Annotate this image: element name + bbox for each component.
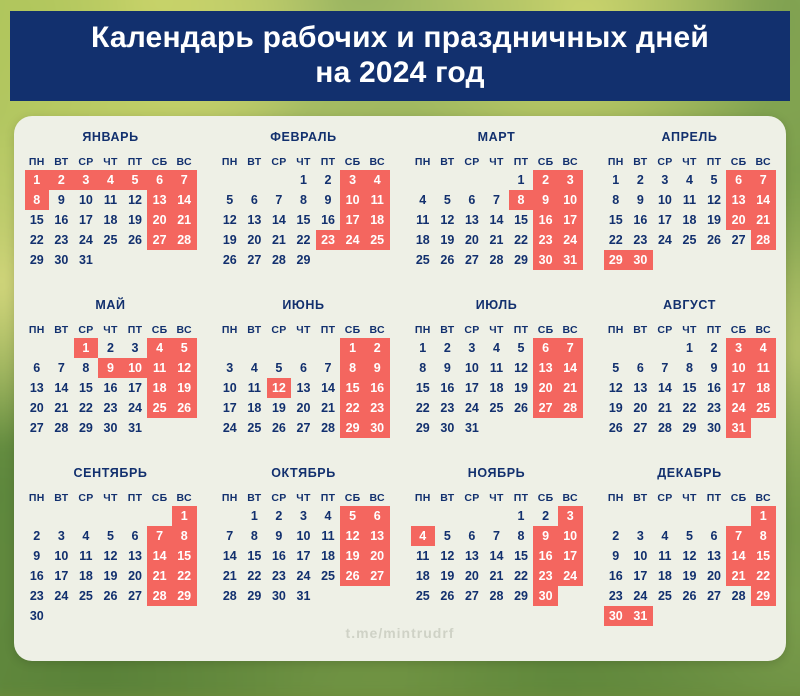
day-cell-empty — [677, 606, 702, 626]
day-cell-work: 21 — [653, 398, 678, 418]
weekday-header-7: ВС — [558, 153, 583, 170]
weekday-header-2: ВТ — [435, 153, 460, 170]
day-cell-rest: 1 — [172, 506, 197, 526]
day-cell-work: 30 — [25, 606, 50, 626]
day-cell-work: 5 — [267, 358, 292, 378]
day-cell-work: 30 — [267, 586, 292, 606]
day-cell-work: 9 — [316, 190, 341, 210]
weekday-header-row: ПНВТСРЧТПТСБВС — [411, 489, 583, 506]
weekday-header-4: ЧТ — [98, 321, 123, 338]
week-row: 1234567 — [604, 170, 776, 190]
day-cell-rest: 23 — [533, 230, 558, 250]
day-cell-work: 2 — [533, 506, 558, 526]
day-cell-empty — [702, 250, 727, 270]
month-table: ПНВТСРЧТПТСБВС 1234567891011121314151617… — [218, 489, 390, 606]
day-cell-work: 13 — [628, 378, 653, 398]
day-cell-work: 4 — [653, 526, 678, 546]
day-cell-work: 4 — [242, 358, 267, 378]
day-cell-empty — [98, 250, 123, 270]
week-row: 18192021222324 — [411, 230, 583, 250]
day-cell-work: 18 — [484, 378, 509, 398]
day-cell-work: 19 — [218, 230, 243, 250]
day-cell-rest: 10 — [558, 190, 583, 210]
day-cell-work: 17 — [123, 378, 148, 398]
day-cell-rest: 9 — [533, 526, 558, 546]
month-table: ПНВТСРЧТПТСБВС 1234567891011121314151617… — [604, 321, 776, 438]
day-cell-empty — [340, 586, 365, 606]
day-cell-work: 2 — [604, 526, 629, 546]
day-cell-work: 21 — [316, 398, 341, 418]
day-cell-rest: 30 — [533, 250, 558, 270]
day-cell-work: 18 — [411, 230, 436, 250]
weekday-header-2: ВТ — [49, 489, 74, 506]
day-cell-work: 25 — [653, 586, 678, 606]
day-cell-work: 15 — [74, 378, 99, 398]
week-row: 21222324252627 — [218, 566, 390, 586]
day-cell-rest: 12 — [340, 526, 365, 546]
day-cell-work: 22 — [677, 398, 702, 418]
month-block-12: ДЕКАБРЬПНВТСРЧТПТСБВС 123456789101112131… — [593, 466, 786, 634]
week-row: 123456 — [218, 506, 390, 526]
day-cell-work: 20 — [291, 398, 316, 418]
week-row: 3456789 — [218, 358, 390, 378]
day-cell-work: 10 — [49, 546, 74, 566]
week-row: 17181920212223 — [218, 398, 390, 418]
day-cell-work: 9 — [267, 526, 292, 546]
weekday-header-3: СР — [653, 153, 678, 170]
day-cell-work: 15 — [677, 378, 702, 398]
weekday-header-7: ВС — [172, 321, 197, 338]
day-cell-work: 28 — [484, 250, 509, 270]
day-cell-empty — [726, 506, 751, 526]
day-cell-empty — [460, 506, 485, 526]
day-cell-work: 24 — [123, 398, 148, 418]
day-cell-work: 25 — [411, 586, 436, 606]
day-cell-rest: 21 — [558, 378, 583, 398]
day-cell-work: 13 — [460, 210, 485, 230]
day-cell-work: 23 — [604, 586, 629, 606]
day-cell-rest: 31 — [558, 250, 583, 270]
weekday-header-5: ПТ — [509, 153, 534, 170]
week-row: 22232425262728 — [25, 230, 197, 250]
weekday-header-4: ЧТ — [291, 321, 316, 338]
month-name: ОКТЯБРЬ — [271, 466, 336, 480]
month-block-9: СЕНТЯБРЬПНВТСРЧТПТСБВС 12345678910111213… — [14, 466, 207, 634]
day-cell-empty — [123, 606, 148, 626]
day-cell-work: 11 — [653, 546, 678, 566]
day-cell-work: 18 — [677, 210, 702, 230]
day-cell-work: 16 — [316, 210, 341, 230]
weekday-header-6: СБ — [340, 153, 365, 170]
day-cell-work: 8 — [411, 358, 436, 378]
day-cell-work: 1 — [411, 338, 436, 358]
day-cell-work: 22 — [509, 566, 534, 586]
day-cell-work: 13 — [460, 546, 485, 566]
week-row: 2728293031 — [25, 418, 197, 438]
day-cell-work: 19 — [435, 566, 460, 586]
weekday-header-7: ВС — [365, 489, 390, 506]
month-table: ПНВТСРЧТПТСБВС 1234567891011121314151617… — [218, 321, 390, 438]
month-name: СЕНТЯБРЬ — [74, 466, 148, 480]
week-row: 262728293031 — [604, 418, 776, 438]
weekday-header-3: СР — [460, 153, 485, 170]
day-cell-work: 19 — [267, 398, 292, 418]
day-cell-work: 27 — [702, 586, 727, 606]
weekday-header-4: ЧТ — [98, 153, 123, 170]
day-cell-rest: 16 — [365, 378, 390, 398]
day-cell-work: 12 — [98, 546, 123, 566]
day-cell-work: 31 — [123, 418, 148, 438]
week-row: 3031 — [604, 606, 776, 626]
day-cell-work: 6 — [460, 190, 485, 210]
day-cell-rest: 19 — [172, 378, 197, 398]
day-cell-rest: 15 — [751, 546, 776, 566]
month-name: ИЮНЬ — [282, 298, 324, 312]
day-cell-rest: 8 — [172, 526, 197, 546]
weekday-header-6: СБ — [340, 489, 365, 506]
day-cell-rest: 1 — [340, 338, 365, 358]
month-name: АВГУСТ — [663, 298, 716, 312]
weekday-header-5: ПТ — [123, 153, 148, 170]
day-cell-work: 10 — [460, 358, 485, 378]
weekday-header-6: СБ — [533, 153, 558, 170]
day-cell-work: 15 — [604, 210, 629, 230]
day-cell-rest: 1 — [74, 338, 99, 358]
day-cell-rest: 25 — [147, 398, 172, 418]
day-cell-work: 30 — [49, 250, 74, 270]
day-cell-empty — [25, 338, 50, 358]
day-cell-rest: 13 — [365, 526, 390, 546]
day-cell-work: 7 — [316, 358, 341, 378]
day-cell-work: 26 — [267, 418, 292, 438]
day-cell-work: 5 — [604, 358, 629, 378]
day-cell-work: 15 — [411, 378, 436, 398]
day-cell-empty — [316, 586, 341, 606]
months-grid: ЯНВАРЬПНВТСРЧТПТСБВС12345678910111213141… — [14, 130, 786, 634]
week-row: 15161718192021 — [604, 210, 776, 230]
weekday-header-row: ПНВТСРЧТПТСБВС — [218, 153, 390, 170]
day-cell-rest: 4 — [147, 338, 172, 358]
day-cell-work: 12 — [435, 546, 460, 566]
day-cell-work: 19 — [677, 566, 702, 586]
weekday-header-7: ВС — [558, 321, 583, 338]
weekday-header-row: ПНВТСРЧТПТСБВС — [25, 489, 197, 506]
weekday-header-1: ПН — [218, 321, 243, 338]
weekday-header-1: ПН — [411, 153, 436, 170]
day-cell-empty — [218, 338, 243, 358]
day-cell-empty — [604, 338, 629, 358]
weekday-header-3: СР — [267, 153, 292, 170]
day-cell-work: 11 — [74, 546, 99, 566]
week-row: 20212223242526 — [25, 398, 197, 418]
weekday-header-row: ПНВТСРЧТПТСБВС — [604, 321, 776, 338]
day-cell-rest: 3 — [558, 170, 583, 190]
week-row: 19202122232425 — [604, 398, 776, 418]
day-cell-work: 8 — [509, 526, 534, 546]
weekday-header-5: ПТ — [316, 153, 341, 170]
day-cell-rest: 18 — [751, 378, 776, 398]
day-cell-work: 3 — [628, 526, 653, 546]
day-cell-empty — [365, 586, 390, 606]
weekday-header-2: ВТ — [242, 321, 267, 338]
day-cell-work: 27 — [628, 418, 653, 438]
day-cell-work: 18 — [242, 398, 267, 418]
week-row: 45678910 — [411, 526, 583, 546]
day-cell-rest: 18 — [147, 378, 172, 398]
day-cell-rest: 6 — [147, 170, 172, 190]
month-block-8: АВГУСТПНВТСРЧТПТСБВС 1234567891011121314… — [593, 298, 786, 466]
day-cell-work: 13 — [25, 378, 50, 398]
day-cell-work: 27 — [726, 230, 751, 250]
day-cell-empty — [218, 170, 243, 190]
weekday-header-4: ЧТ — [484, 153, 509, 170]
day-cell-empty — [533, 418, 558, 438]
month-name: МАРТ — [478, 130, 516, 144]
day-cell-work: 12 — [702, 190, 727, 210]
day-cell-empty — [484, 418, 509, 438]
day-cell-rest: 14 — [558, 358, 583, 378]
day-cell-work: 5 — [677, 526, 702, 546]
day-cell-empty — [98, 506, 123, 526]
weekday-header-5: ПТ — [702, 153, 727, 170]
day-cell-work: 29 — [291, 250, 316, 270]
day-cell-empty — [147, 418, 172, 438]
weekday-header-2: ВТ — [435, 321, 460, 338]
day-cell-work: 8 — [677, 358, 702, 378]
day-cell-work: 27 — [242, 250, 267, 270]
weekday-header-3: СР — [267, 489, 292, 506]
day-cell-rest: 24 — [558, 566, 583, 586]
day-cell-empty — [267, 170, 292, 190]
day-cell-rest: 10 — [340, 190, 365, 210]
day-cell-work: 14 — [484, 546, 509, 566]
day-cell-empty — [484, 170, 509, 190]
day-cell-rest: 10 — [558, 526, 583, 546]
day-cell-work: 29 — [74, 418, 99, 438]
day-cell-work: 23 — [628, 230, 653, 250]
day-cell-work: 25 — [677, 230, 702, 250]
day-cell-empty — [751, 418, 776, 438]
day-cell-rest: 5 — [172, 338, 197, 358]
day-cell-empty — [267, 338, 292, 358]
day-cell-work: 8 — [291, 190, 316, 210]
day-cell-work: 11 — [316, 526, 341, 546]
weekday-header-row: ПНВТСРЧТПТСБВС — [218, 489, 390, 506]
day-cell-work: 19 — [604, 398, 629, 418]
day-cell-work: 28 — [267, 250, 292, 270]
week-row: 19202122232425 — [218, 230, 390, 250]
day-cell-work: 3 — [653, 170, 678, 190]
day-cell-rest: 29 — [340, 418, 365, 438]
day-cell-work: 1 — [677, 338, 702, 358]
day-cell-rest: 20 — [726, 210, 751, 230]
weekday-header-3: СР — [267, 321, 292, 338]
day-cell-work: 14 — [49, 378, 74, 398]
week-row: 78910111213 — [218, 526, 390, 546]
day-cell-work: 12 — [677, 546, 702, 566]
day-cell-work: 2 — [702, 338, 727, 358]
day-cell-empty — [509, 418, 534, 438]
day-cell-work: 2 — [628, 170, 653, 190]
day-cell-work: 17 — [628, 566, 653, 586]
footer-watermark: t.me/mintrudrf — [14, 625, 786, 641]
day-cell-work: 17 — [74, 210, 99, 230]
day-cell-work: 5 — [435, 526, 460, 546]
month-block-4: АПРЕЛЬПНВТСРЧТПТСБВС12345678910111213141… — [593, 130, 786, 298]
day-cell-work: 7 — [49, 358, 74, 378]
day-cell-rest: 17 — [340, 210, 365, 230]
week-row: 1234 — [604, 338, 776, 358]
day-cell-work: 2 — [25, 526, 50, 546]
day-cell-empty — [604, 506, 629, 526]
day-cell-work: 20 — [702, 566, 727, 586]
day-cell-work: 12 — [604, 378, 629, 398]
day-cell-empty — [558, 418, 583, 438]
weekday-header-6: СБ — [726, 153, 751, 170]
weekday-header-6: СБ — [726, 489, 751, 506]
day-cell-rest: 9 — [533, 190, 558, 210]
day-cell-rest: 23 — [365, 398, 390, 418]
day-cell-work: 1 — [509, 170, 534, 190]
day-cell-work: 11 — [484, 358, 509, 378]
day-cell-rest: 1 — [25, 170, 50, 190]
day-cell-work: 17 — [291, 546, 316, 566]
day-cell-rest: 19 — [340, 546, 365, 566]
week-row: 6789101112 — [25, 358, 197, 378]
week-row: 2345678 — [25, 526, 197, 546]
day-cell-work: 24 — [653, 230, 678, 250]
day-cell-work: 27 — [25, 418, 50, 438]
day-cell-work: 5 — [702, 170, 727, 190]
day-cell-empty — [172, 418, 197, 438]
day-cell-work: 23 — [435, 398, 460, 418]
day-cell-work: 10 — [628, 546, 653, 566]
day-cell-work: 26 — [435, 250, 460, 270]
day-cell-rest: 8 — [509, 190, 534, 210]
week-row: 15161718192021 — [411, 378, 583, 398]
month-table: ПНВТСРЧТПТСБВС 1234567891011121314151617… — [411, 489, 583, 606]
week-row: 23242526272829 — [25, 586, 197, 606]
day-cell-work: 27 — [291, 418, 316, 438]
weekday-header-7: ВС — [172, 489, 197, 506]
week-row: 293031 — [411, 418, 583, 438]
title-banner: Календарь рабочих и праздничных дней на … — [10, 11, 790, 101]
day-cell-rest: 24 — [340, 230, 365, 250]
month-name: ИЮЛЬ — [476, 298, 518, 312]
day-cell-rest: 8 — [25, 190, 50, 210]
day-cell-rest: 14 — [751, 190, 776, 210]
day-cell-work: 16 — [435, 378, 460, 398]
day-cell-work: 26 — [435, 586, 460, 606]
day-cell-empty — [316, 250, 341, 270]
day-cell-work: 25 — [74, 586, 99, 606]
weekday-header-1: ПН — [604, 321, 629, 338]
weekday-header-2: ВТ — [435, 489, 460, 506]
day-cell-rest: 22 — [172, 566, 197, 586]
weekday-header-1: ПН — [604, 489, 629, 506]
day-cell-work: 28 — [484, 586, 509, 606]
day-cell-rest: 8 — [751, 526, 776, 546]
day-cell-rest: 1 — [751, 506, 776, 526]
day-cell-work: 2 — [267, 506, 292, 526]
day-cell-work: 7 — [218, 526, 243, 546]
day-cell-work: 13 — [123, 546, 148, 566]
week-row: 13141516171819 — [25, 378, 197, 398]
month-table: ПНВТСРЧТПТСБВС 1234567891011121314151617… — [218, 153, 390, 270]
weekday-header-1: ПН — [218, 489, 243, 506]
weekday-header-1: ПН — [25, 321, 50, 338]
day-cell-work: 27 — [460, 250, 485, 270]
day-cell-work: 22 — [411, 398, 436, 418]
day-cell-work: 9 — [49, 190, 74, 210]
day-cell-work: 28 — [49, 418, 74, 438]
day-cell-work: 29 — [411, 418, 436, 438]
day-cell-work: 25 — [411, 250, 436, 270]
weekday-header-row: ПНВТСРЧТПТСБВС — [218, 321, 390, 338]
week-row: 123 — [411, 170, 583, 190]
month-name: МАЙ — [95, 298, 125, 312]
day-cell-work: 26 — [218, 250, 243, 270]
weekday-header-row: ПНВТСРЧТПТСБВС — [25, 321, 197, 338]
day-cell-work: 10 — [218, 378, 243, 398]
weekday-header-7: ВС — [751, 321, 776, 338]
weekday-header-7: ВС — [365, 153, 390, 170]
day-cell-work: 21 — [267, 230, 292, 250]
day-cell-work: 6 — [460, 526, 485, 546]
weekday-header-1: ПН — [604, 153, 629, 170]
day-cell-empty — [435, 506, 460, 526]
weekday-header-4: ЧТ — [677, 153, 702, 170]
day-cell-work: 3 — [49, 526, 74, 546]
day-cell-rest: 31 — [628, 606, 653, 626]
day-cell-work: 24 — [628, 586, 653, 606]
weekday-header-5: ПТ — [123, 489, 148, 506]
day-cell-empty — [677, 250, 702, 270]
day-cell-work: 19 — [123, 210, 148, 230]
day-cell-work: 11 — [411, 210, 436, 230]
week-row: 10111213141516 — [218, 378, 390, 398]
day-cell-work: 30 — [98, 418, 123, 438]
week-row: 123 — [411, 506, 583, 526]
day-cell-rest: 14 — [172, 190, 197, 210]
day-cell-work: 7 — [484, 526, 509, 546]
day-cell-work: 17 — [653, 210, 678, 230]
day-cell-work: 28 — [726, 586, 751, 606]
day-cell-rest: 21 — [147, 566, 172, 586]
day-cell-rest: 21 — [172, 210, 197, 230]
day-cell-empty — [123, 506, 148, 526]
day-cell-empty — [147, 506, 172, 526]
day-cell-work: 14 — [267, 210, 292, 230]
day-cell-work: 12 — [435, 210, 460, 230]
day-cell-empty — [147, 606, 172, 626]
day-cell-work: 22 — [291, 230, 316, 250]
day-cell-empty — [316, 338, 341, 358]
day-cell-rest: 9 — [365, 358, 390, 378]
week-row: 11121314151617 — [411, 210, 583, 230]
day-cell-work: 29 — [25, 250, 50, 270]
day-cell-work: 22 — [604, 230, 629, 250]
day-cell-work: 19 — [435, 230, 460, 250]
month-table: ПНВТСРЧТПТСБВС 1234567891011121314151617… — [25, 321, 197, 438]
day-cell-work: 9 — [702, 358, 727, 378]
day-cell-rest: 20 — [365, 546, 390, 566]
day-cell-rest: 31 — [726, 418, 751, 438]
day-cell-work: 10 — [291, 526, 316, 546]
day-cell-work: 27 — [460, 586, 485, 606]
day-cell-empty — [653, 606, 678, 626]
week-row: 1234 — [218, 170, 390, 190]
